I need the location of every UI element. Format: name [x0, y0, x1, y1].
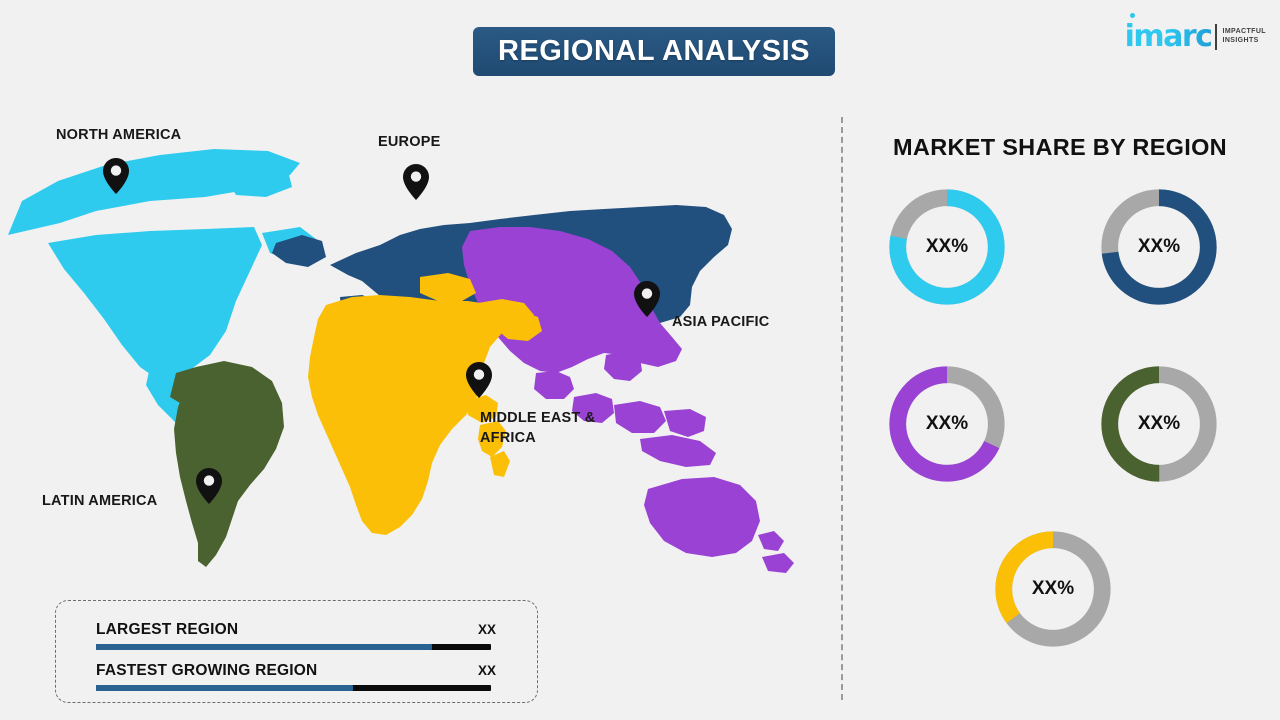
logo-wordmark: imarc — [1125, 22, 1212, 52]
regional-analysis-infographic: REGIONAL ANALYSIS imarc IMPACTFUL INSIGH… — [0, 0, 1280, 720]
summary-legend-box: LARGEST REGION XX FASTEST GROWING REGION… — [55, 600, 538, 703]
map-label-latin-america: LATIN AMERICA — [42, 492, 157, 512]
map-region-middle-east-africa — [308, 273, 542, 535]
donut-chart-asia-pacific: XX% — [882, 359, 1012, 489]
map-pin-latin-america[interactable] — [196, 468, 222, 504]
legend-row-largest-region: LARGEST REGION XX — [96, 621, 496, 650]
map-label-north-america: NORTH AMERICA — [56, 126, 181, 146]
donut-chart-europe: XX% — [1094, 182, 1224, 312]
logo-tagline: IMPACTFUL INSIGHTS — [1222, 28, 1266, 46]
donut-value-latin-america: XX% — [1094, 359, 1224, 489]
map-label-europe: EUROPE — [378, 133, 440, 153]
legend-bar-fastest-growing-region — [96, 685, 491, 691]
logo-divider — [1215, 24, 1217, 50]
map-pin-north-america[interactable] — [103, 158, 129, 194]
donut-value-europe: XX% — [1094, 182, 1224, 312]
panel-title: MARKET SHARE BY REGION — [860, 134, 1260, 161]
map-label-asia-pacific: ASIA PACIFIC — [672, 313, 769, 333]
legend-label-fastest-growing-region: FASTEST GROWING REGION — [96, 662, 496, 680]
map-region-asia-pacific — [462, 227, 794, 573]
map-pin-middle-east-africa[interactable] — [466, 362, 492, 398]
logo-tagline-line1: IMPACTFUL — [1222, 28, 1266, 37]
logo-word-text: imarc — [1125, 22, 1212, 52]
legend-label-largest-region: LARGEST REGION — [96, 621, 496, 639]
map-pin-europe[interactable] — [403, 164, 429, 200]
imarc-logo: imarc IMPACTFUL INSIGHTS — [1125, 22, 1266, 52]
legend-value-largest-region: XX — [478, 622, 496, 637]
donut-value-asia-pacific: XX% — [882, 359, 1012, 489]
map-region-latin-america — [170, 361, 284, 567]
legend-bar-fill-fastest-growing-region — [96, 685, 353, 691]
page-title: REGIONAL ANALYSIS — [473, 27, 835, 76]
section-divider — [841, 117, 843, 700]
map-pin-asia-pacific[interactable] — [634, 281, 660, 317]
legend-bar-largest-region — [96, 644, 491, 650]
legend-value-fastest-growing-region: XX — [478, 663, 496, 678]
donut-chart-north-america: XX% — [882, 182, 1012, 312]
legend-bar-fill-largest-region — [96, 644, 432, 650]
donut-chart-latin-america: XX% — [1094, 359, 1224, 489]
donut-chart-middle-east-africa: XX% — [988, 524, 1118, 654]
map-label-middle-east-africa: MIDDLE EAST & AFRICA — [480, 409, 595, 448]
logo-tagline-line2: INSIGHTS — [1222, 37, 1266, 46]
logo-dot-icon — [1130, 13, 1135, 18]
donut-value-north-america: XX% — [882, 182, 1012, 312]
legend-row-fastest-growing-region: FASTEST GROWING REGION XX — [96, 662, 496, 691]
donut-value-middle-east-africa: XX% — [988, 524, 1118, 654]
page-title-text: REGIONAL ANALYSIS — [498, 35, 810, 68]
